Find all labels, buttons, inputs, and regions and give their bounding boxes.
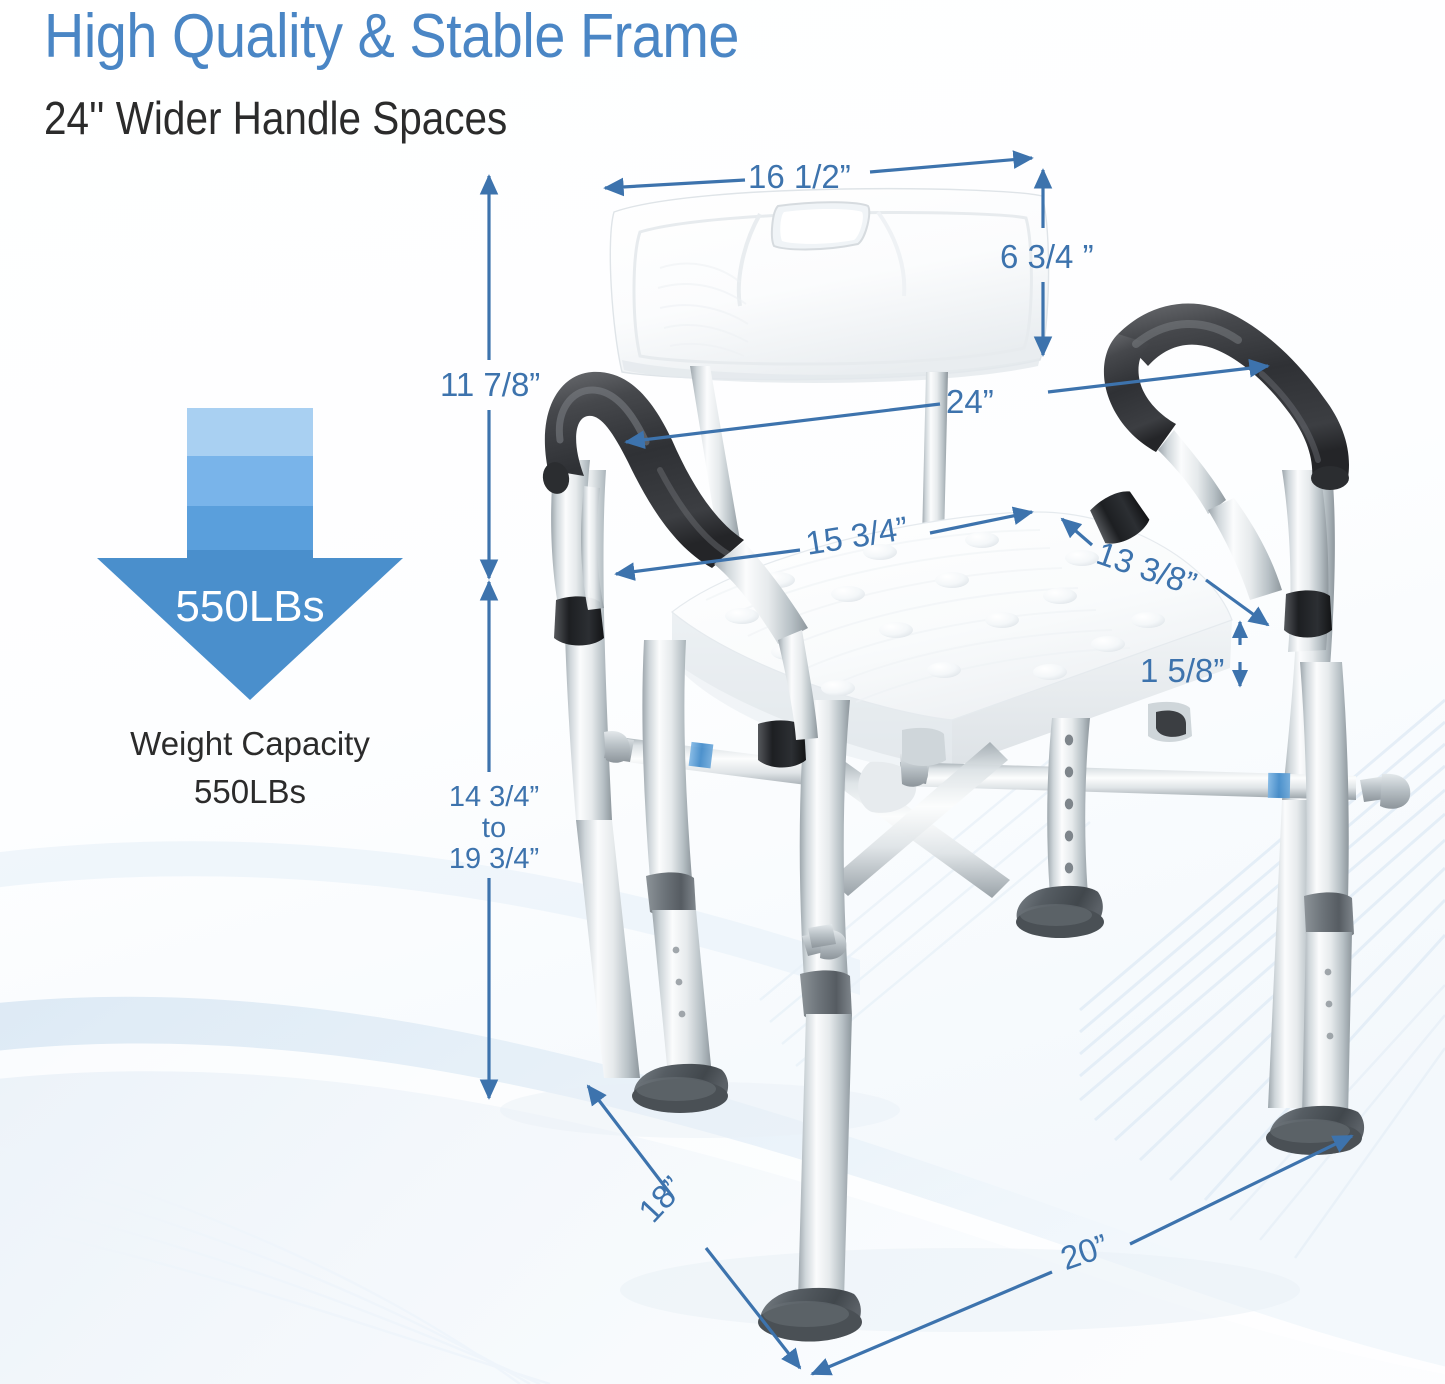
dim-seat-thickness: 1 5/8” bbox=[1140, 654, 1224, 688]
dim-backrest-width: 16 1/2” bbox=[748, 160, 851, 194]
capacity-caption: Weight Capacity 550LBs bbox=[95, 720, 405, 816]
page-title: High Quality & Stable Frame bbox=[44, 4, 739, 70]
dim-seat-height-to: to bbox=[437, 813, 551, 844]
dim-seat-height-max: 19 3/4” bbox=[437, 844, 551, 875]
capacity-value: 550LBs bbox=[95, 582, 405, 632]
cross-braces bbox=[610, 736, 1356, 898]
dim-seat-height-min: 14 3/4” bbox=[437, 782, 551, 813]
seat-clamp-right bbox=[1148, 702, 1192, 742]
capacity-caption-line1: Weight Capacity bbox=[95, 720, 405, 768]
front-left-leg bbox=[632, 640, 728, 1113]
dim-backrest-top-to-seat: 11 7/8” bbox=[440, 368, 540, 402]
page-subtitle: 24'' Wider Handle Spaces bbox=[44, 92, 507, 144]
down-arrow-icon: 550LBs bbox=[95, 400, 405, 710]
center-front-leg bbox=[758, 700, 862, 1342]
dim-seat-height-range: 14 3/4” to 19 3/4” bbox=[437, 782, 551, 875]
dim-backrest-height: 6 3/4 ” bbox=[1000, 240, 1094, 274]
seat-clamp-center bbox=[902, 728, 946, 766]
backrest bbox=[610, 189, 1048, 383]
dim-handle-span: 24” bbox=[946, 385, 994, 419]
center-knob bbox=[652, 742, 680, 766]
weight-capacity-badge: 550LBs Weight Capacity 550LBs bbox=[95, 400, 405, 816]
backrest-support-posts bbox=[690, 366, 948, 540]
down-arrow-graphic bbox=[95, 400, 405, 710]
left-adjust-knob bbox=[604, 731, 634, 763]
capacity-caption-line2: 550LBs bbox=[95, 768, 405, 816]
center-right-adjustable-leg bbox=[1016, 718, 1104, 938]
lower-center-knob bbox=[808, 924, 836, 948]
